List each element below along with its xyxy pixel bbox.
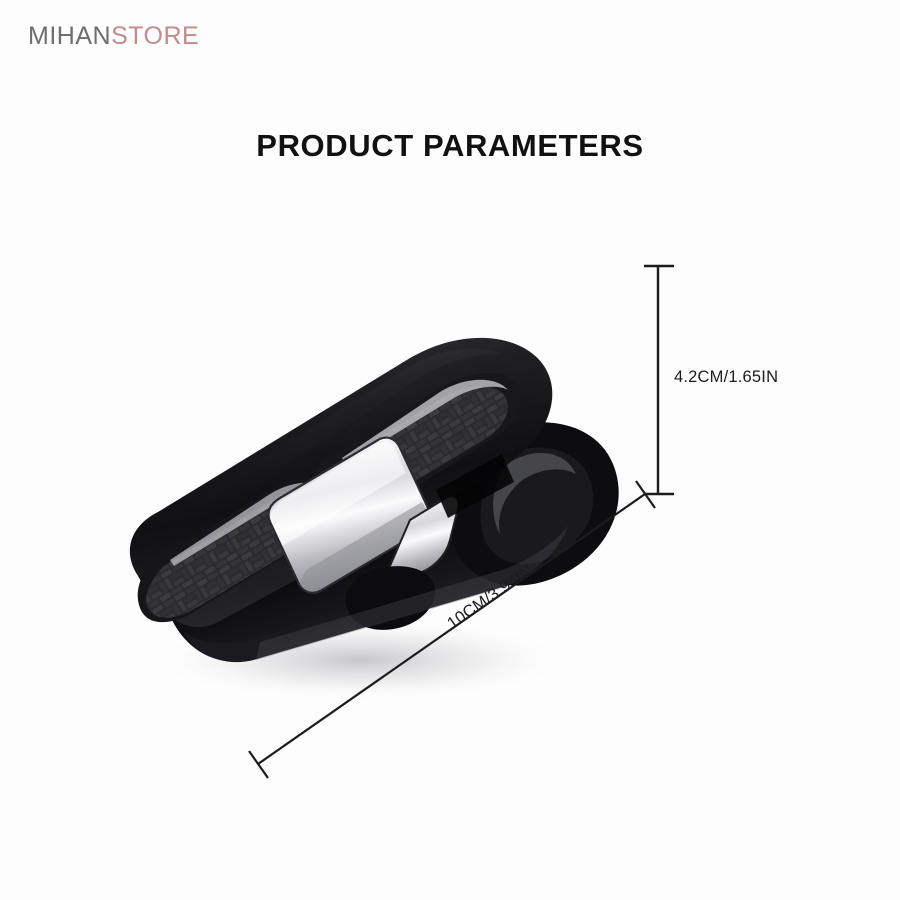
- product-illustration: [110, 240, 690, 720]
- product-image: [110, 240, 690, 720]
- brand-logo-secondary: STORE: [111, 22, 199, 50]
- brand-logo: MIHANSTORE: [28, 24, 199, 49]
- page-title: PRODUCT PARAMETERS: [0, 128, 900, 164]
- brand-logo-primary: MIHAN: [28, 22, 111, 50]
- product-parameters-page: MIHANSTORE PRODUCT PARAMETERS: [0, 0, 900, 900]
- dimension-label-height: 4.2CM/1.65IN: [674, 368, 778, 387]
